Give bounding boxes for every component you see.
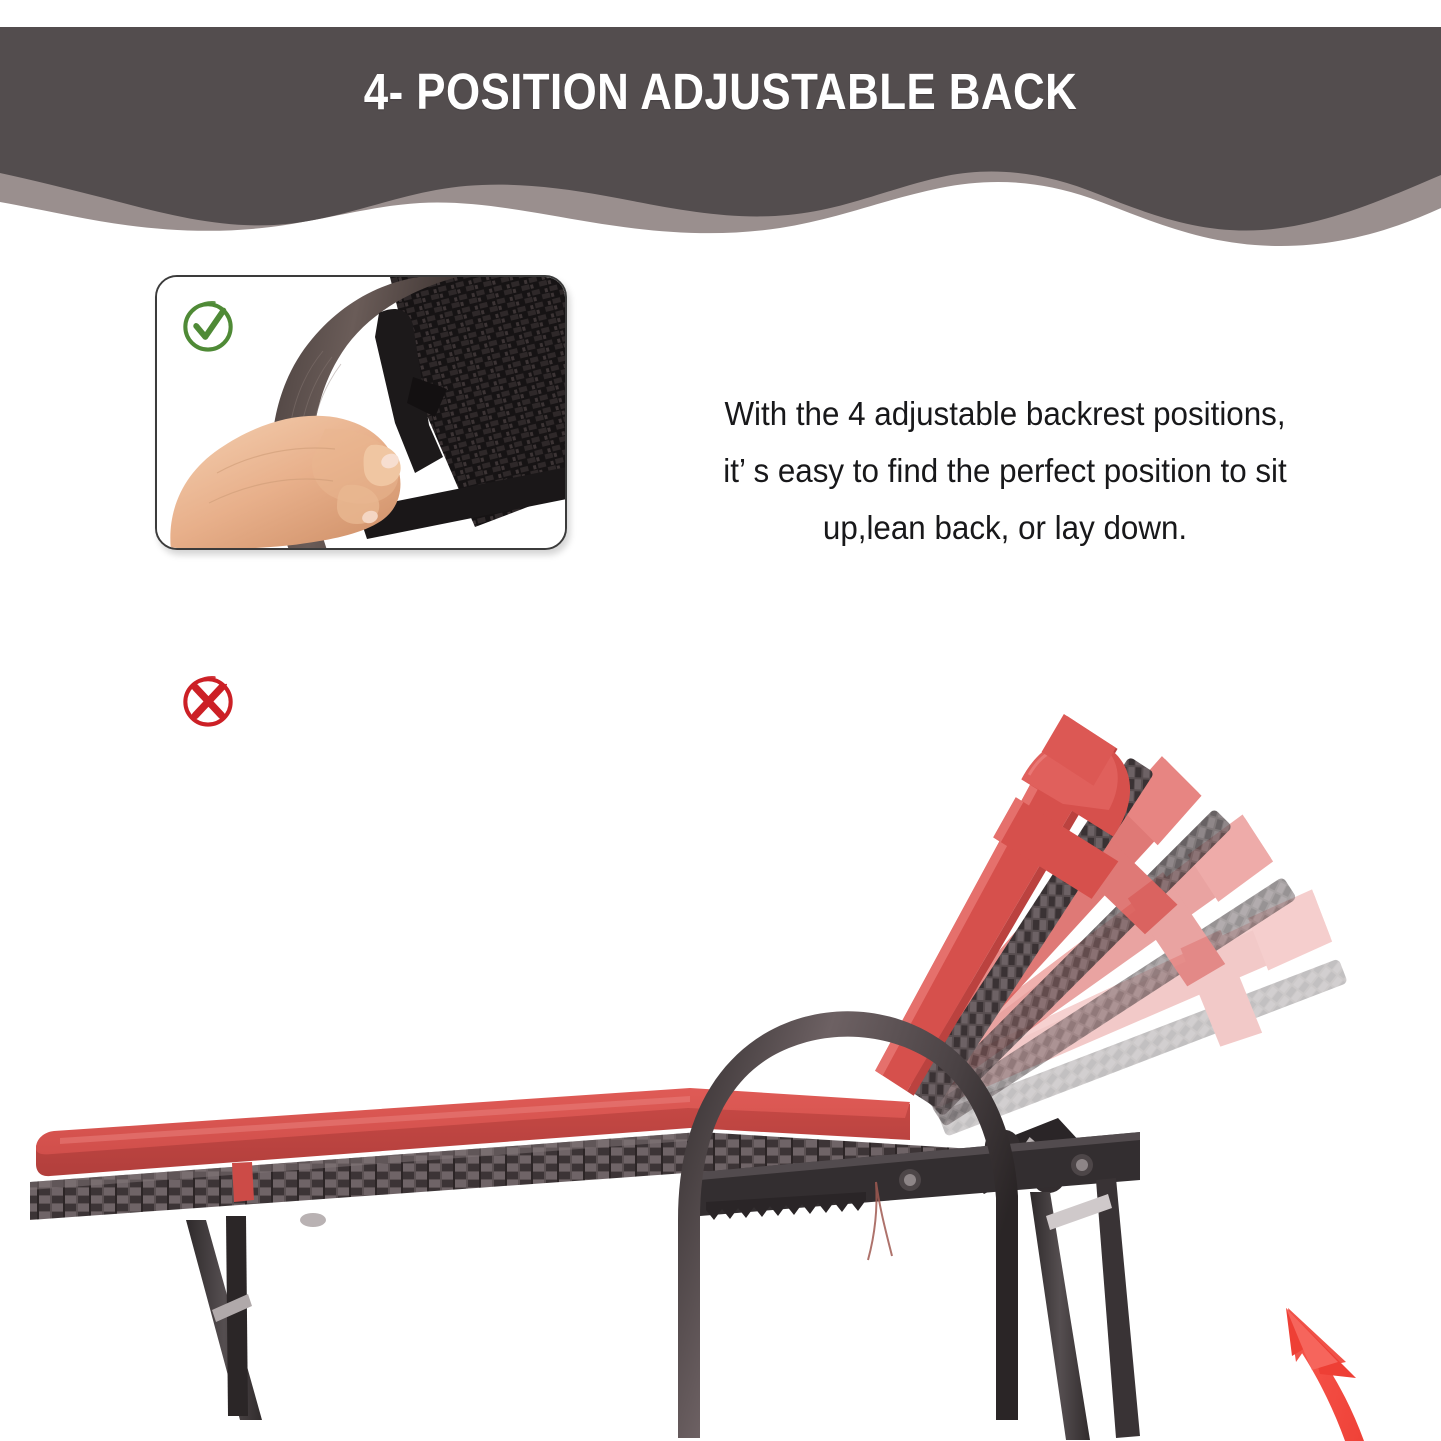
description-paragraph: With the 4 adjustable backrest positions… <box>630 385 1381 556</box>
description-line-3: up,lean back, or lay down. <box>630 499 1381 556</box>
page-title: 4- POSITION ADJUSTABLE BACK <box>101 62 1340 121</box>
seat-hardware <box>300 1213 326 1227</box>
check-circle-icon <box>179 297 237 355</box>
cushion-strap-front <box>232 1162 254 1202</box>
header-banner: 4- POSITION ADJUSTABLE BACK <box>0 0 1441 270</box>
thumbnail-correct-grip <box>155 275 567 550</box>
description-line-1: With the 4 adjustable backrest positions… <box>630 385 1381 442</box>
chaise-lounge-illustration <box>0 620 1441 1441</box>
description-line-2: it’ s easy to find the perfect position … <box>630 442 1381 499</box>
banner-wave-graphic <box>0 0 1441 270</box>
product-scene <box>0 620 1441 1441</box>
infographic-page: 4- POSITION ADJUSTABLE BACK <box>0 0 1441 1441</box>
x-circle-icon <box>179 672 237 730</box>
banner-wave-dark <box>0 27 1441 231</box>
